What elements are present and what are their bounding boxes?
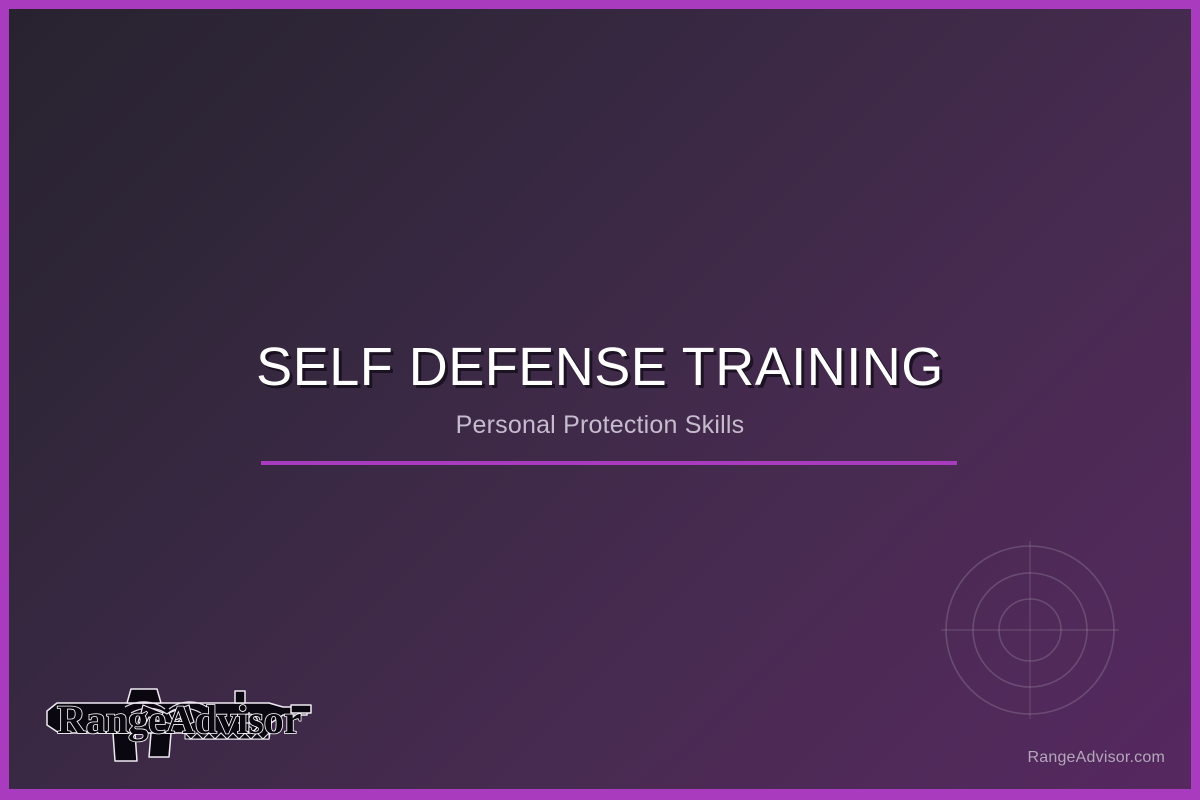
slide-canvas: SELF DEFENSE TRAINING Personal Protectio… [9, 9, 1191, 789]
presentation-slide: SELF DEFENSE TRAINING Personal Protectio… [0, 0, 1200, 800]
site-watermark: RangeAdvisor.com [1028, 749, 1166, 767]
title-divider-rule [261, 461, 957, 465]
brand-logo: RangeAdvisor [39, 677, 315, 769]
slide-title: SELF DEFENSE TRAINING [9, 339, 1191, 395]
slide-subtitle: Personal Protection Skills [9, 411, 1191, 440]
crosshair-target-icon [941, 541, 1119, 719]
title-block: SELF DEFENSE TRAINING Personal Protectio… [9, 339, 1191, 440]
brand-logo-wordmark: RangeAdvisor [57, 697, 301, 742]
